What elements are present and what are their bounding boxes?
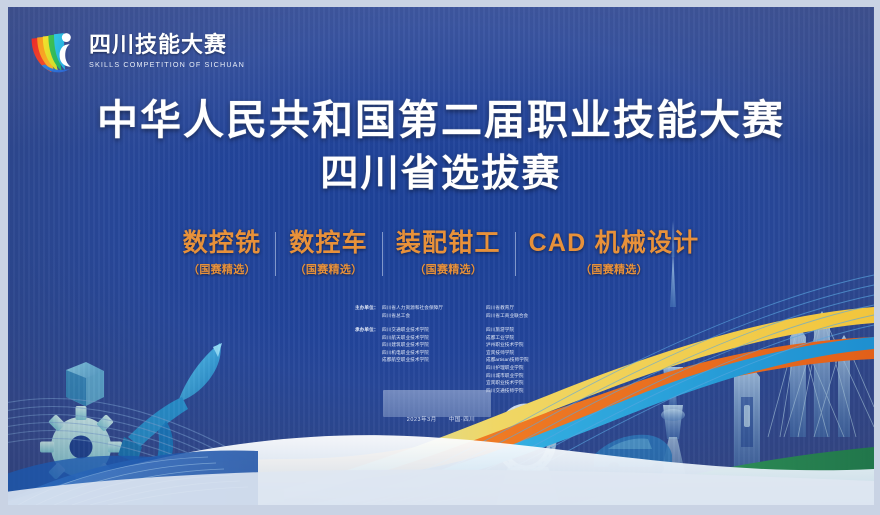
organizer-entry: 四川省工商业联合会 [486,312,582,320]
host-column-2: 四川旅游学院 成都工业学院 泸州职业技术学院 宜宾技师学院 成都artisan技… [486,326,582,394]
host-group: 承办单位： 四川交通职业技术学院 四川航天职业技术学院 四川建筑职业技术学院 四… [355,326,645,394]
host-entry: 四川旅游学院 [486,326,582,334]
event-date: 2023年3月 [407,417,437,423]
host-entry: 四川建筑职业技术学院 [382,341,486,349]
category-item-1: 数控铣 （国赛精选） [169,229,276,277]
competition-category-list: 数控铣 （国赛精选） 数控车 （国赛精选） 装配钳工 （国赛精选） CAD 机械… [8,229,874,277]
host-entry: 四川机电职业技术学院 [382,349,486,357]
category-item-4: CAD 机械设计 （国赛精选） [515,229,714,277]
host-label: 承办单位： [355,326,382,394]
category-subtitle: （国赛精选） [183,261,262,277]
host-column-1: 四川交通职业技术学院 四川航天职业技术学院 四川建筑职业技术学院 四川机电职业技… [382,326,486,394]
host-entry: 泸州职业技术学院 [486,341,582,349]
host-entry: 成都工业学院 [486,334,582,342]
organizer-column-1: 四川省人力资源和社会保障厅 四川省总工会 [382,304,486,319]
category-name: CAD 机械设计 [529,229,700,257]
host-entry: 四川航天职业技术学院 [382,334,486,342]
category-name: 数控车 [289,229,368,257]
host-entry: 宜宾职业技术学院 [486,379,582,387]
date-location-line: 2023年3月 中国·四川 [8,415,874,423]
organizer-entry: 四川省总工会 [382,312,486,320]
organizer-entry: 四川省教育厅 [486,304,582,312]
organizer-column-2: 四川省教育厅 四川省工商业联合会 [486,304,582,319]
host-entry: 成都航空职业技术学院 [382,356,486,364]
event-place: 中国·四川 [449,417,475,423]
host-entry: 四川交通技师学院 [486,387,582,395]
frame-edge-right [874,0,880,515]
credits-light-overlay-patch [383,390,491,417]
host-entry: 四川交通职业技术学院 [382,326,486,334]
logo-chinese-name: 四川技能大赛 [89,33,245,56]
credits-block: 主办单位： 四川省人力资源和社会保障厅 四川省总工会 四川省教育厅 四川省工商业… [355,304,645,401]
host-entry: 四川护理职业学院 [486,364,582,372]
banner-headline: 中华人民共和国第二届职业技能大赛 四川省选拔赛 [8,95,874,199]
content-layer: 四川技能大赛 SKILLS COMPETITION OF SICHUAN 中华人… [8,7,874,505]
organizer-entry: 四川省人力资源和社会保障厅 [382,304,486,312]
logo-english-name: SKILLS COMPETITION OF SICHUAN [89,60,245,69]
stage-backdrop-banner: 四川技能大赛 SKILLS COMPETITION OF SICHUAN 中华人… [8,7,874,505]
frame-edge-top [0,0,880,7]
sichuan-skills-swoosh-logo-icon [26,23,82,79]
category-name: 装配钳工 [396,229,501,257]
organizer-label: 主办单位： [355,304,382,319]
headline-line-1: 中华人民共和国第二届职业技能大赛 [8,95,874,146]
category-item-2: 数控车 （国赛精选） [275,229,382,277]
organizer-group: 主办单位： 四川省人力资源和社会保障厅 四川省总工会 四川省教育厅 四川省工商业… [355,304,645,319]
frame-edge-bottom [0,505,880,515]
category-subtitle: （国赛精选） [289,261,368,277]
category-item-3: 装配钳工 （国赛精选） [382,229,515,277]
host-entry: 四川城市职业学院 [486,372,582,380]
banner-screenshot: 四川技能大赛 SKILLS COMPETITION OF SICHUAN 中华人… [0,0,880,515]
category-subtitle: （国赛精选） [529,261,700,277]
host-entry: 宜宾技师学院 [486,349,582,357]
category-subtitle: （国赛精选） [396,261,501,277]
headline-line-2: 四川省选拔赛 [8,150,874,199]
category-name: 数控铣 [183,229,262,257]
host-entry: 成都artisan技师学院 [486,356,582,364]
frame-edge-left [0,0,8,515]
sichuan-skills-logo: 四川技能大赛 SKILLS COMPETITION OF SICHUAN [26,23,245,79]
